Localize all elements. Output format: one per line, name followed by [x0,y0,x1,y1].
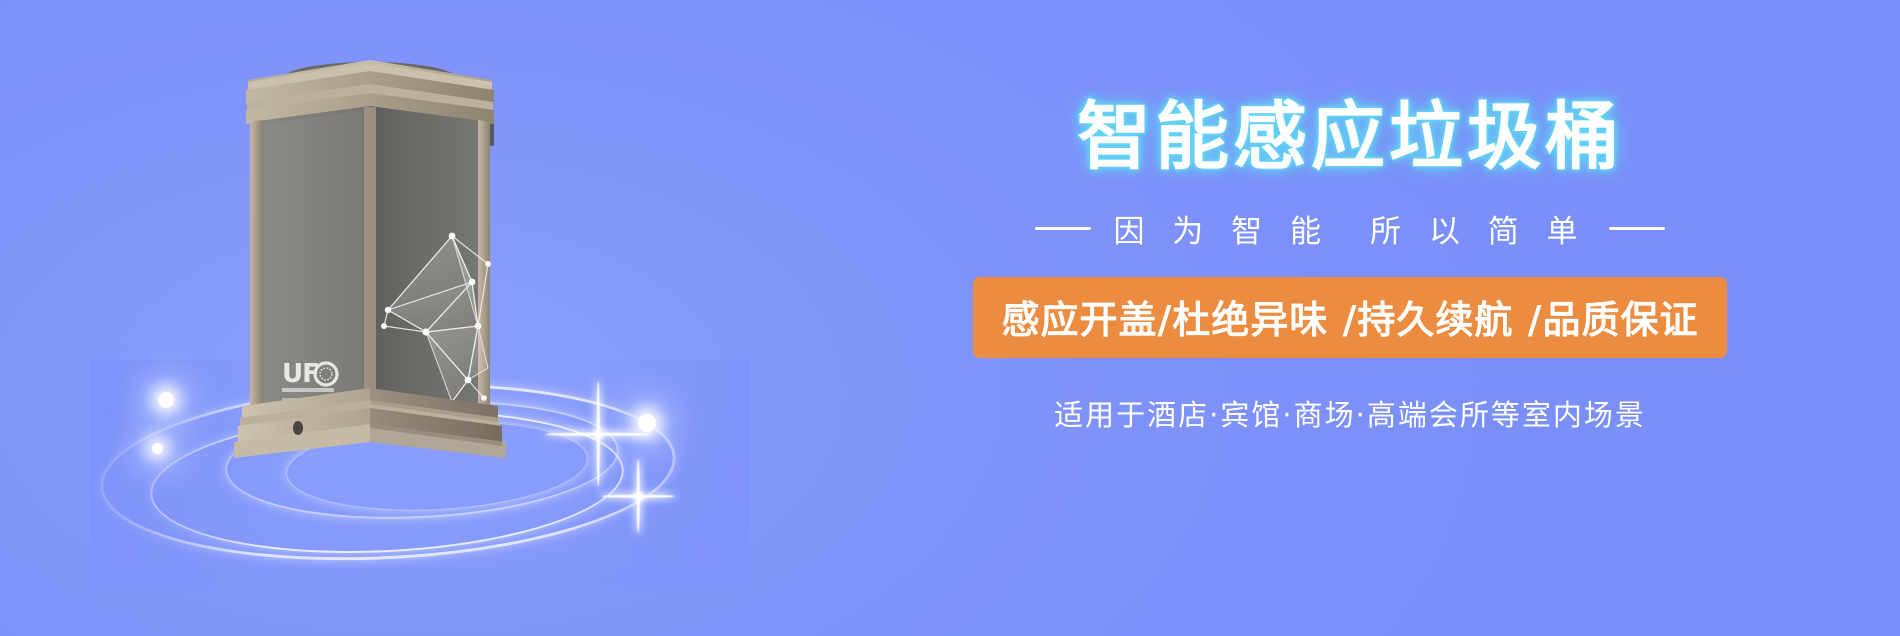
svg-text:UF: UF [282,359,319,389]
glow-dot-left-upper [158,392,174,408]
glow-dot-left-lower [152,443,163,454]
subline-text: 因 为 智 能 所 以 简 单 [1113,206,1586,251]
product-banner: UF [0,0,1900,636]
subline-rule-right [1609,227,1665,230]
feature-highlight-badge: 感应开盖/杜绝异味 /持久续航 /品质保证 [973,277,1726,358]
banner-copy: 智能感应垃圾桶 因 为 智 能 所 以 简 单 感应开盖/杜绝异味 /持久续航 … [880,100,1820,434]
banner-subline: 因 为 智 能 所 以 简 单 [880,206,1820,251]
product-stage: UF [90,30,750,590]
glow-dot-right [638,414,656,432]
subline-rule-left [1035,227,1091,230]
smart-trash-bin: UF [220,50,540,474]
usage-scenarios-text: 适用于酒店·宾馆·商场·高端会所等室内场景 [880,392,1820,434]
banner-headline: 智能感应垃圾桶 [880,100,1820,174]
sensor-port-icon [293,421,303,435]
